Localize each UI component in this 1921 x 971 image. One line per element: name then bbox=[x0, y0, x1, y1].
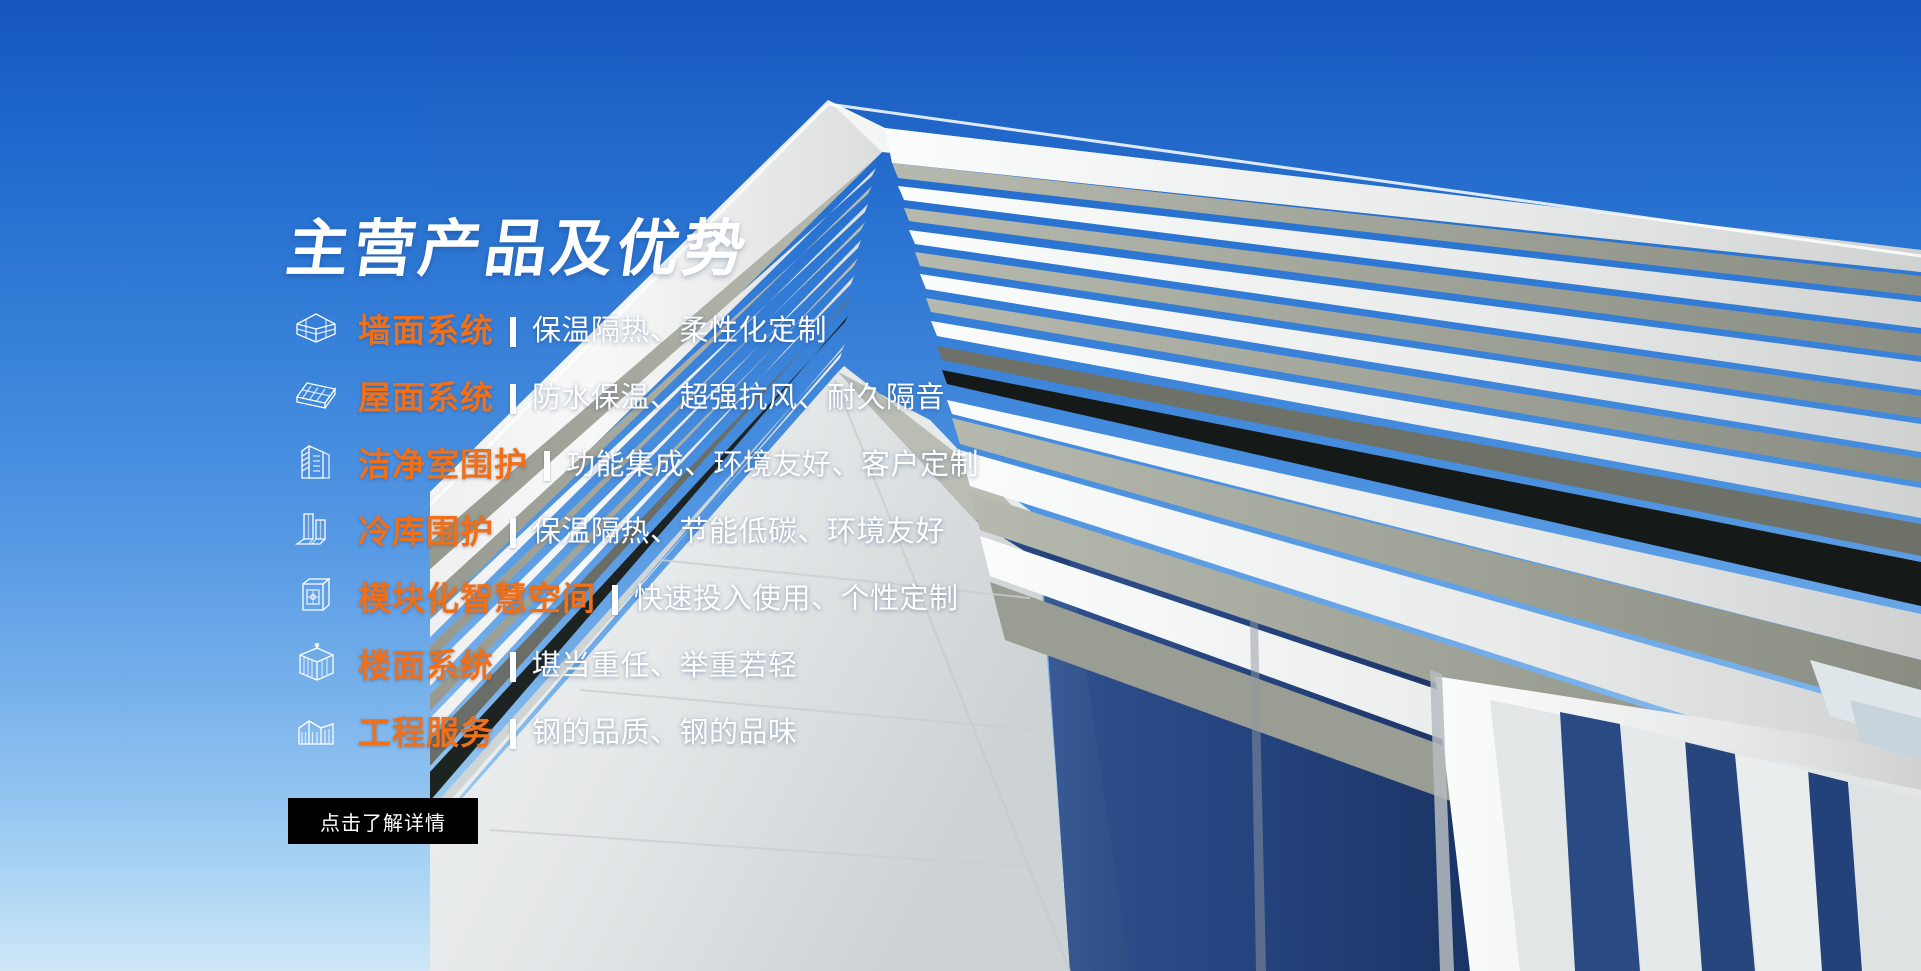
modular-space-icon bbox=[288, 571, 344, 621]
separator-bar bbox=[544, 451, 550, 481]
list-item[interactable]: 楼面系统 堪当重任、举重若轻 bbox=[288, 629, 1188, 696]
product-desc: 保温隔热、柔性化定制 bbox=[532, 307, 827, 349]
product-title: 模块化智慧空间 bbox=[358, 572, 596, 620]
separator-bar bbox=[510, 652, 516, 682]
engineering-service-icon bbox=[288, 705, 344, 755]
separator-bar bbox=[510, 518, 516, 548]
product-desc: 功能集成、环境友好、客户定制 bbox=[566, 441, 979, 483]
product-title: 工程服务 bbox=[358, 706, 494, 754]
separator-bar bbox=[612, 585, 618, 615]
product-desc: 堪当重任、举重若轻 bbox=[532, 642, 798, 684]
learn-more-button[interactable]: 点击了解详情 bbox=[288, 798, 478, 844]
floor-system-icon bbox=[288, 638, 344, 688]
product-title: 楼面系统 bbox=[358, 639, 494, 687]
product-title: 洁净室围护 bbox=[358, 438, 528, 486]
list-item[interactable]: 墙面系统 保温隔热、柔性化定制 bbox=[288, 294, 1188, 361]
product-list: 墙面系统 保温隔热、柔性化定制 屋面系统 bbox=[288, 294, 1188, 763]
product-desc: 快速投入使用、个性定制 bbox=[634, 575, 959, 617]
list-item[interactable]: 屋面系统 防水保温、超强抗风、耐久隔音 bbox=[288, 361, 1188, 428]
product-title: 冷库围护 bbox=[358, 505, 494, 553]
list-item[interactable]: 模块化智慧空间 快速投入使用、个性定制 bbox=[288, 562, 1188, 629]
product-desc: 钢的品质、钢的品味 bbox=[532, 709, 798, 751]
cleanroom-building-icon bbox=[288, 437, 344, 487]
product-title: 屋面系统 bbox=[358, 371, 494, 419]
page-title: 主营产品及优势 bbox=[282, 198, 757, 288]
separator-bar bbox=[510, 317, 516, 347]
list-item[interactable]: 工程服务 钢的品质、钢的品味 bbox=[288, 696, 1188, 763]
product-title: 墙面系统 bbox=[358, 304, 494, 352]
product-desc: 防水保温、超强抗风、耐久隔音 bbox=[532, 374, 945, 416]
hero-content: 主营产品及优势 墙面系统 保温隔热、柔性化定制 bbox=[0, 0, 1200, 971]
wall-panel-icon bbox=[288, 303, 344, 353]
list-item[interactable]: 洁净室围护 功能集成、环境友好、客户定制 bbox=[288, 428, 1188, 495]
hero-banner: 主营产品及优势 墙面系统 保温隔热、柔性化定制 bbox=[0, 0, 1921, 971]
separator-bar bbox=[510, 719, 516, 749]
product-desc: 保温隔热、节能低碳、环境友好 bbox=[532, 508, 945, 550]
separator-bar bbox=[510, 384, 516, 414]
roof-panel-icon bbox=[288, 370, 344, 420]
cold-storage-icon bbox=[288, 504, 344, 554]
list-item[interactable]: 冷库围护 保温隔热、节能低碳、环境友好 bbox=[288, 495, 1188, 562]
